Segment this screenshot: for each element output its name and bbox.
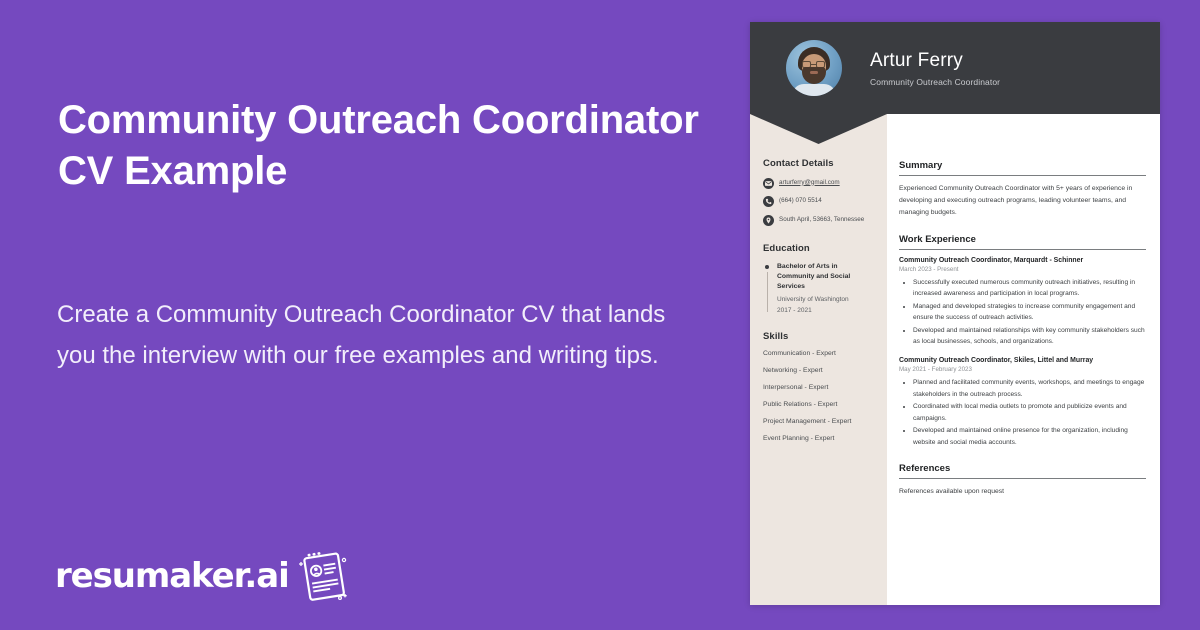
job-title: Community Outreach Coordinator, Skiles, … [899,357,1146,364]
contact-row-location[interactable]: South April, 53663, Tennessee [763,214,876,226]
skill-item: Event Planning - Expert [763,435,876,442]
envelope-icon [763,178,774,189]
timeline-line [767,272,768,312]
job-bullet: Developed and maintained relationships w… [913,325,1146,348]
job-bullet: Developed and maintained online presence… [913,425,1146,448]
resume-document-icon [293,550,351,602]
job-bullet: Successfully executed numerous community… [913,277,1146,300]
summary-section: Summary Experienced Community Outreach C… [899,160,1146,219]
skill-item: Public Relations - Expert [763,401,876,408]
cv-header: Artur Ferry Community Outreach Coordinat… [750,22,1160,114]
work-experience-section: Work Experience Community Outreach Coord… [899,234,1146,449]
summary-text: Experienced Community Outreach Coordinat… [899,183,1146,219]
job-bullet-list: Planned and facilitated community events… [913,377,1146,448]
job-bullet: Planned and facilitated community events… [913,377,1146,400]
page-title: Community Outreach Coordinator CV Exampl… [58,95,718,197]
education-item: Bachelor of Arts in Community and Social… [763,262,876,314]
contact-phone[interactable]: (664) 070 5514 [779,196,822,206]
resumaker-logo[interactable]: resumaker.ai [55,550,351,602]
references-text: References available upon request [899,486,1146,498]
location-pin-icon [763,215,774,226]
work-experience-heading: Work Experience [899,234,1146,250]
job-entry: Community Outreach Coordinator, Skiles, … [899,357,1146,448]
cv-preview-card[interactable]: Artur Ferry Community Outreach Coordinat… [750,22,1160,605]
job-title: Community Outreach Coordinator, Marquard… [899,257,1146,264]
cv-main-column: Summary Experienced Community Outreach C… [887,114,1160,605]
contact-email[interactable]: arturferry@gmail.com [779,177,840,187]
cv-sidebar: Contact Details arturferry@gmail.com (66… [750,114,887,605]
cv-role: Community Outreach Coordinator [870,77,1000,87]
job-bullet: Coordinated with local media outlets to … [913,401,1146,424]
promo-panel: Community Outreach Coordinator CV Exampl… [0,0,750,630]
promo-subtitle: Create a Community Outreach Coordinator … [57,295,677,377]
job-bullet: Managed and developed strategies to incr… [913,301,1146,324]
contact-row-email[interactable]: arturferry@gmail.com [763,177,876,189]
education-years: 2017 - 2021 [777,307,876,314]
logo-wordmark: resumaker.ai [55,556,289,596]
education-heading: Education [763,243,876,254]
education-section: Education Bachelor of Arts in Community … [763,243,876,314]
contact-details-heading: Contact Details [763,158,876,169]
cv-name: Artur Ferry [870,50,1000,72]
skill-item: Communication - Expert [763,350,876,357]
skill-item: Interpersonal - Expert [763,384,876,391]
job-date: March 2023 - Present [899,266,1146,273]
education-school: University of Washington [777,295,876,305]
skill-item: Networking - Expert [763,367,876,374]
references-heading: References [899,463,1146,479]
references-section: References References available upon req… [899,463,1146,498]
skills-section: Skills Communication - Expert Networking… [763,331,876,442]
education-timeline-rail [763,262,774,314]
phone-icon [763,196,774,207]
job-date: May 2021 - February 2023 [899,366,1146,373]
summary-heading: Summary [899,160,1146,176]
education-degree: Bachelor of Arts in Community and Social… [777,262,876,293]
contact-details-section: Contact Details arturferry@gmail.com (66… [763,158,876,226]
bullet-dot-icon [765,265,769,269]
contact-row-phone[interactable]: (664) 070 5514 [763,196,876,208]
skill-item: Project Management - Expert [763,418,876,425]
job-bullet-list: Successfully executed numerous community… [913,277,1146,348]
job-entry: Community Outreach Coordinator, Marquard… [899,257,1146,348]
avatar [786,40,842,96]
skills-heading: Skills [763,331,876,342]
contact-location[interactable]: South April, 53663, Tennessee [779,214,864,224]
